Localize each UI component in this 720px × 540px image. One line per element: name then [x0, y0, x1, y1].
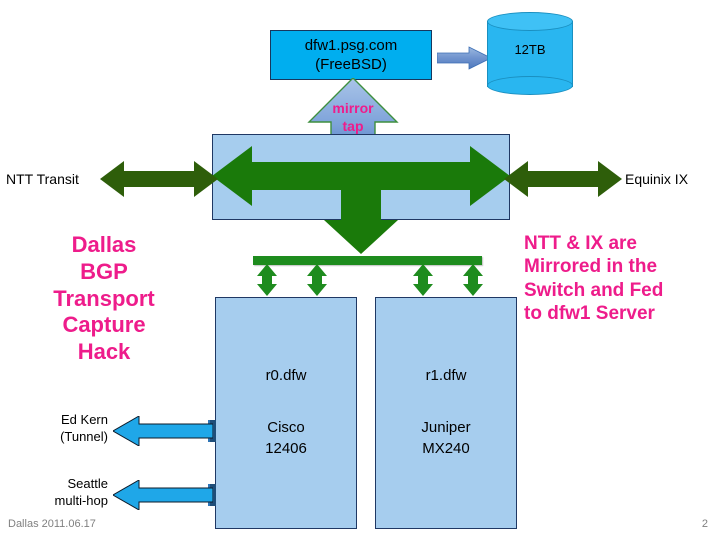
left-headline-line-2: Transport: [16, 286, 192, 313]
router-vendor-r0: Cisco: [265, 418, 307, 439]
left-headline-line-3: Capture: [16, 312, 192, 339]
right-headline-line-1: Mirrored in the: [524, 255, 720, 278]
page-number: 2: [702, 518, 708, 530]
server-os: (FreeBSD): [315, 55, 387, 74]
seattle-line1: Seattle: [20, 475, 108, 492]
double-headed-horizontal-arrow-icon: [212, 146, 510, 266]
left-headline-line-4: Hack: [16, 339, 192, 366]
edkern-tunnel-arrow: [113, 416, 213, 446]
router-box-r1[interactable]: r1.dfw Juniper MX240: [375, 297, 517, 529]
mirror-tap-label: mirror tap: [307, 100, 399, 135]
server-hostname: dfw1.psg.com: [305, 36, 398, 55]
storage-cylinder[interactable]: 12TB: [487, 12, 573, 96]
switch-mirror-arrow: [212, 146, 510, 266]
router-modelnum-r1: MX240: [421, 439, 470, 460]
left-arrow-icon: [113, 416, 213, 446]
seattle-multihop-arrow: [113, 480, 213, 510]
mirror-tap-line1: mirror: [307, 100, 399, 118]
ntt-transit-arrow: [100, 160, 218, 198]
left-headline: Dallas BGP Transport Capture Hack: [16, 232, 192, 366]
router-box-r0[interactable]: r0.dfw Cisco 12406: [215, 297, 357, 529]
right-headline-line-2: Switch and Fed: [524, 279, 720, 302]
cylinder-top-icon: [487, 12, 573, 31]
edkern-tunnel-label: Ed Kern (Tunnel): [20, 411, 108, 445]
router-vendor-r1: Juniper: [421, 418, 470, 439]
seattle-multihop-label: Seattle multi-hop: [20, 475, 108, 509]
equinix-ix-arrow: [504, 160, 622, 198]
edkern-line1: Ed Kern: [20, 411, 108, 428]
storage-capacity-label: 12TB: [487, 42, 573, 57]
seattle-line2: multi-hop: [20, 492, 108, 509]
right-headline: NTT & IX are Mirrored in the Switch and …: [524, 232, 720, 325]
server-to-storage-arrow: [437, 46, 491, 70]
router-modelnum-r0: 12406: [265, 439, 307, 460]
double-headed-arrow-icon: [100, 160, 218, 198]
router-bus-links: [240, 264, 500, 296]
edkern-line2: (Tunnel): [20, 428, 108, 445]
slide-canvas: dfw1.psg.com (FreeBSD) 12TB: [0, 0, 720, 540]
server-box[interactable]: dfw1.psg.com (FreeBSD): [270, 30, 432, 80]
router-model-r0: Cisco 12406: [265, 418, 307, 459]
cylinder-bottom-icon: [487, 76, 573, 95]
router-name-r0: r0.dfw: [266, 367, 307, 384]
router-model-r1: Juniper MX240: [421, 418, 470, 459]
left-headline-line-0: Dallas: [16, 232, 192, 259]
double-headed-vertical-arrow-icon: [240, 264, 500, 296]
right-headline-line-3: to dfw1 Server: [524, 302, 720, 325]
ntt-transit-label: NTT Transit: [6, 171, 79, 187]
right-arrow-icon: [437, 46, 491, 70]
right-headline-line-0: NTT & IX are: [524, 232, 720, 255]
left-headline-line-1: BGP: [16, 259, 192, 286]
left-arrow-icon: [113, 480, 213, 510]
footer-date: Dallas 2011.06.17: [8, 518, 96, 530]
double-headed-arrow-icon: [504, 160, 622, 198]
router-name-r1: r1.dfw: [426, 367, 467, 384]
mirror-tap-line2: tap: [307, 118, 399, 136]
equinix-ix-label: Equinix IX: [625, 171, 688, 187]
